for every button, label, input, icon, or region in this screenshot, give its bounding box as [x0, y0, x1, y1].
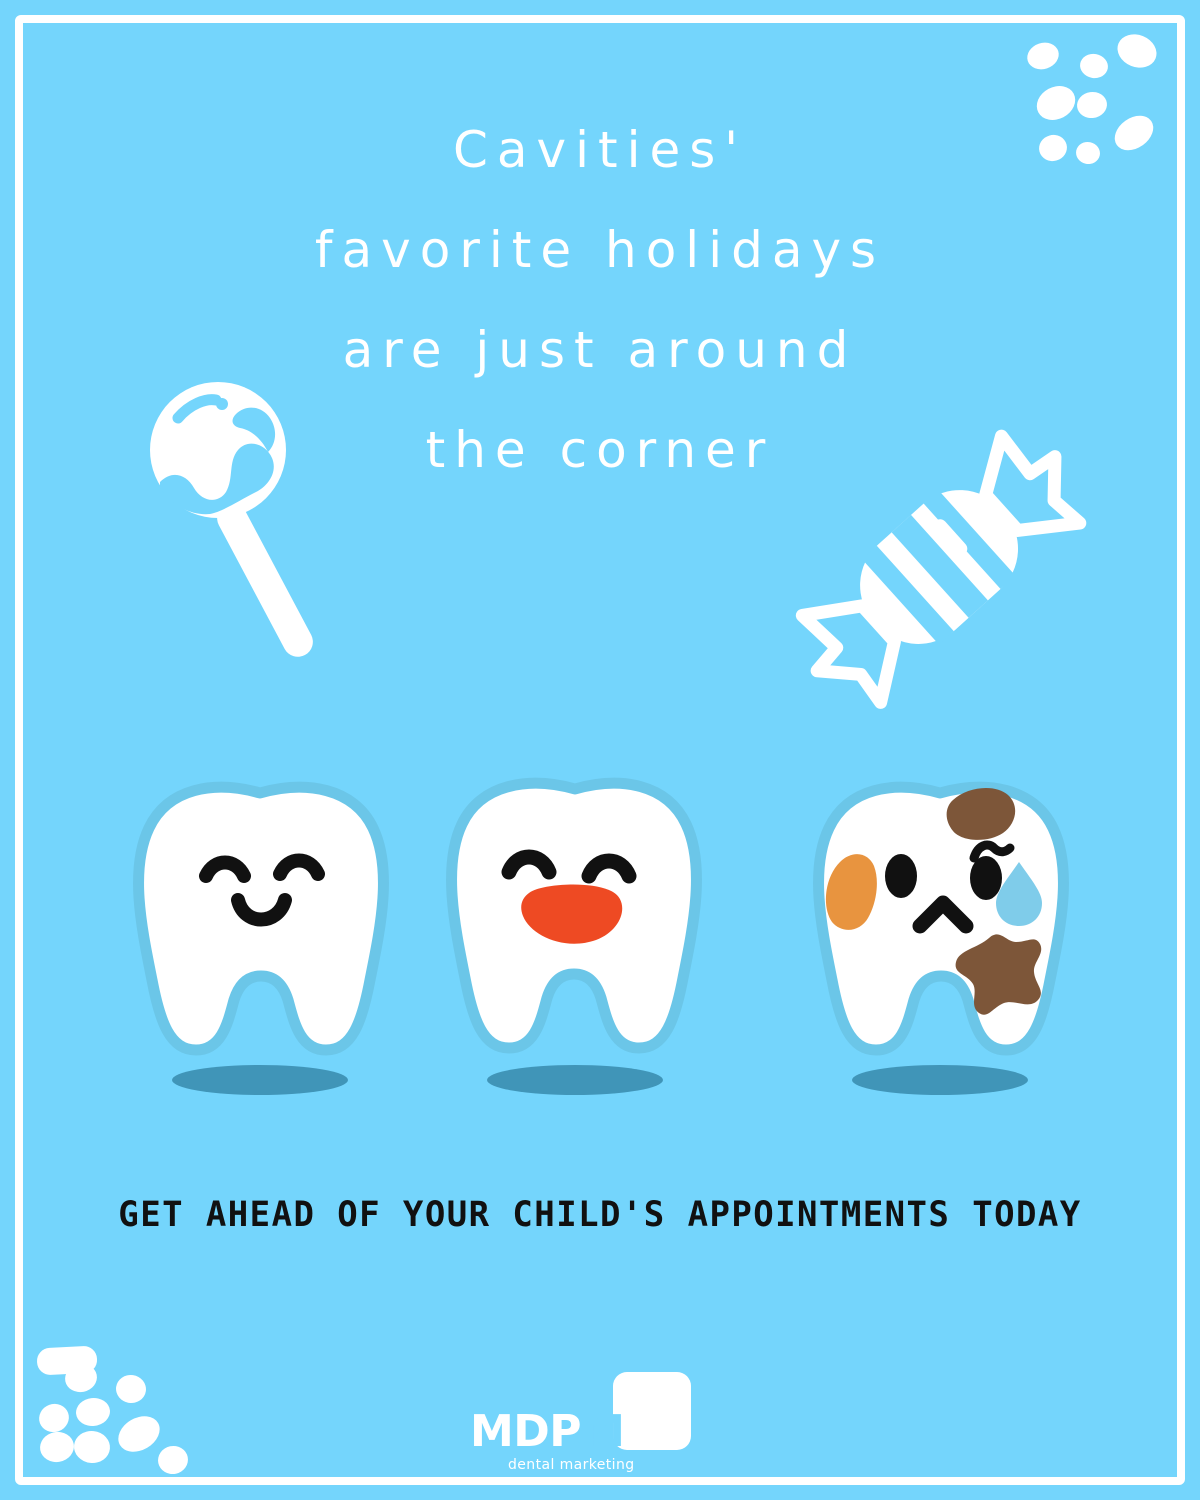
tooth-eye-left	[885, 854, 917, 898]
logo-wordmark: MDPM	[470, 1410, 685, 1454]
headline-line-1: Cavities'	[0, 100, 1200, 200]
tooth-shadow	[852, 1065, 1028, 1095]
logo-word-prefix: MDP	[470, 1406, 581, 1457]
mdpm-logo: MDPM dental marketing	[470, 1372, 730, 1477]
tooth-eye-right	[970, 856, 1002, 900]
logo-word-accent: M	[581, 1406, 624, 1457]
tooth-shadow	[172, 1065, 348, 1095]
happy-tooth	[139, 787, 384, 1095]
cavity-tooth	[819, 787, 1064, 1095]
tooth-shadow	[487, 1065, 663, 1095]
headline: Cavities' favorite holidays are just aro…	[0, 100, 1200, 500]
confetti-dots-icon	[35, 1345, 190, 1476]
headline-line-2: favorite holidays	[0, 200, 1200, 300]
logo-subtitle: dental marketing	[508, 1457, 635, 1473]
laughing-tooth	[452, 783, 697, 1095]
headline-line-3: are just around	[0, 300, 1200, 400]
poster-canvas: Cavities' favorite holidays are just aro…	[0, 0, 1200, 1500]
tagline: GET AHEAD OF YOUR CHILD'S APPOINTMENTS T…	[18, 1195, 1182, 1235]
headline-line-4: the corner	[0, 400, 1200, 500]
